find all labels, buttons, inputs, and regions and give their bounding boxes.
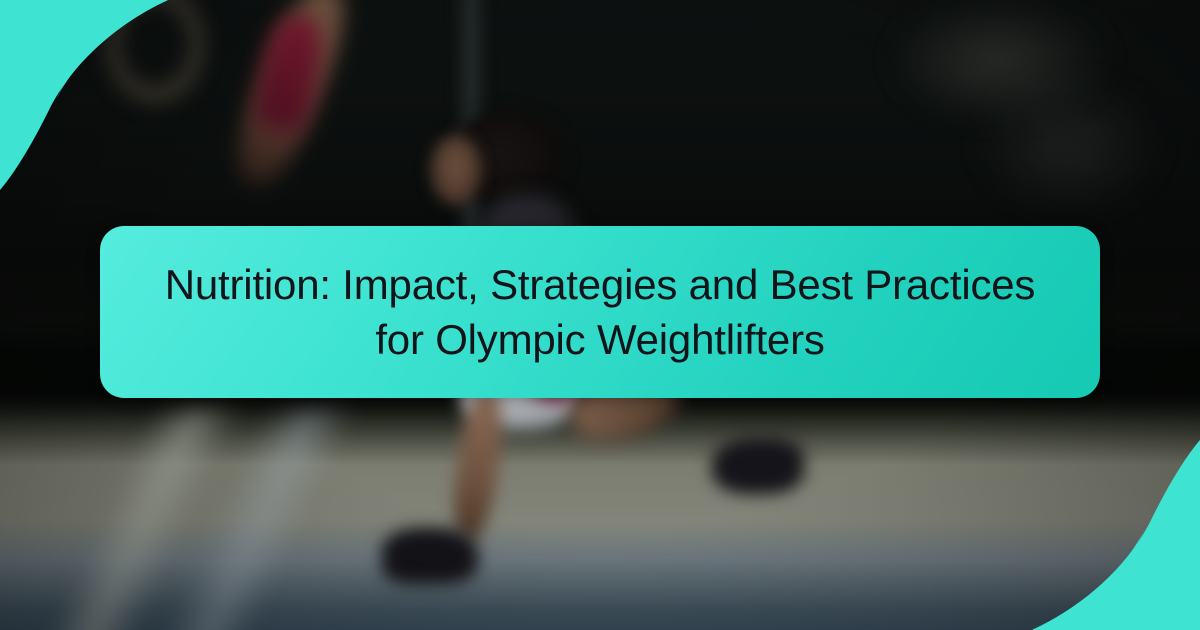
share-card: Nutrition: Impact, Strategies and Best P… xyxy=(0,0,1200,630)
page-title: Nutrition: Impact, Strategies and Best P… xyxy=(140,257,1060,368)
title-banner: Nutrition: Impact, Strategies and Best P… xyxy=(100,226,1100,398)
